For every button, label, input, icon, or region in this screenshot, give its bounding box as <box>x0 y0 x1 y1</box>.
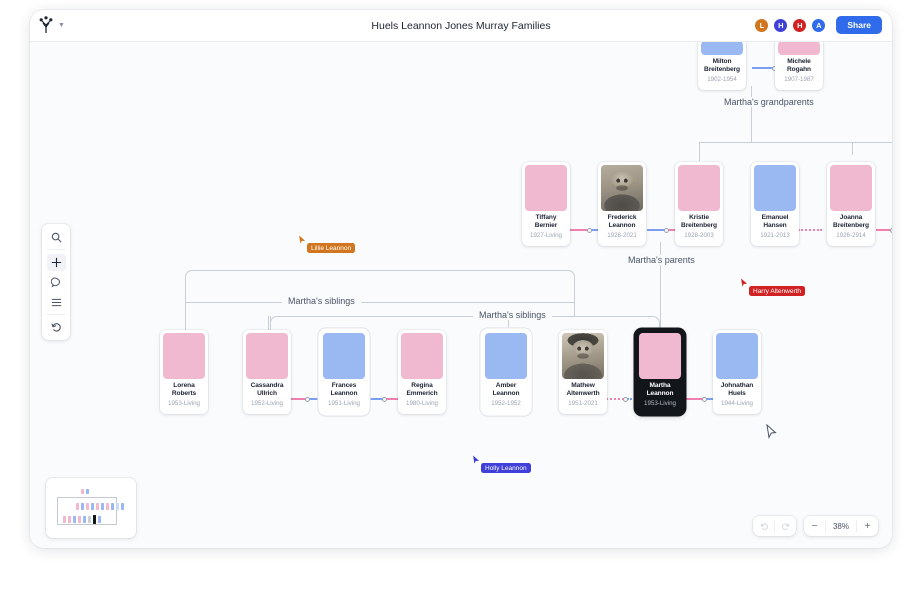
section-label: Martha's siblings <box>473 310 552 320</box>
minimap-node <box>73 516 76 523</box>
person-avatar <box>601 165 643 211</box>
minimap-selected-node <box>93 515 96 524</box>
minimap-node <box>86 503 89 510</box>
person-name: Mathew Altenwerth <box>563 382 603 399</box>
avatar[interactable]: H <box>773 18 788 33</box>
minimap-node <box>96 503 99 510</box>
person-card[interactable]: Frances Leannon 1951-Living <box>320 330 368 414</box>
add-tool-button[interactable] <box>42 252 70 272</box>
connector <box>660 242 661 292</box>
spouse-segment-left <box>685 398 703 400</box>
person-avatar <box>701 42 743 55</box>
spouse-segment-left <box>876 229 891 231</box>
undo-icon <box>759 521 769 531</box>
person-meta: Regina Emmerich 1980-Living <box>401 379 443 411</box>
minimap-node <box>86 489 89 494</box>
minimap-node <box>91 503 94 510</box>
minimap-node <box>98 516 101 523</box>
minimap-node <box>101 503 104 510</box>
connector <box>699 142 892 143</box>
history-tool-button[interactable] <box>42 317 70 337</box>
collaborator-cursor: Holly Leannon <box>472 454 481 466</box>
comment-icon <box>51 277 62 288</box>
cursor-label: Harry Altenwerth <box>749 286 805 296</box>
person-name: Frederick Leannon <box>602 214 642 231</box>
person-dates: 1953-Living <box>164 400 204 407</box>
union-knot <box>623 397 628 402</box>
person-meta: Mathew Altenwerth 1951-2021 <box>562 379 604 411</box>
person-meta: Milton Breitenberg 1902-1954 <box>701 55 743 87</box>
minimap-node <box>76 503 79 510</box>
person-photo <box>601 165 643 211</box>
connector <box>185 316 186 330</box>
person-meta: Frederick Leannon 1928-2021 <box>601 211 643 243</box>
connector <box>852 142 853 155</box>
person-name: Cassandra Ullrich <box>247 382 287 399</box>
union-knot <box>587 228 592 233</box>
spouse-segment-left <box>752 67 773 69</box>
union-knot <box>664 228 669 233</box>
person-name: Milton Breitenberg <box>702 58 742 75</box>
union-knot <box>890 228 893 233</box>
person-meta: Tiffany Bernier 1927-Living <box>525 211 567 243</box>
avatar[interactable]: H <box>792 18 807 33</box>
union-knot <box>702 397 707 402</box>
person-avatar <box>639 333 681 379</box>
person-name: Lorena Roberts <box>164 382 204 399</box>
person-avatar <box>754 165 796 211</box>
person-card[interactable]: Frederick Leannon 1928-2021 <box>598 162 646 246</box>
person-dates: 1926-2914 <box>831 232 871 239</box>
person-card[interactable]: Johnathan Huels 1944-Living <box>713 330 761 414</box>
connector <box>751 86 752 142</box>
person-dates: 1980-Living <box>402 400 442 407</box>
person-avatar <box>716 333 758 379</box>
person-card[interactable]: Regina Emmerich 1980-Living <box>398 330 446 414</box>
connector <box>270 316 271 330</box>
person-meta: Martha Leannon 1953-Living <box>639 379 681 411</box>
bottom-controls: − 38% + <box>753 516 878 536</box>
minimap-node <box>81 503 84 510</box>
union-knot <box>305 397 310 402</box>
person-name: Martha Leannon <box>640 382 680 399</box>
connector <box>268 316 269 330</box>
person-card[interactable]: Michele Rogahn 1907-1987 <box>775 42 823 90</box>
mouse-pointer-icon <box>766 424 777 439</box>
person-meta: Emanuel Hansen 1921-2013 <box>754 211 796 243</box>
cursor-arrow-icon <box>472 454 481 466</box>
zoom-in-button[interactable]: + <box>857 516 878 536</box>
minimap-node <box>83 516 86 523</box>
person-meta: Lorena Roberts 1953-Living <box>163 379 205 411</box>
minimap-inner <box>51 483 131 533</box>
person-dates: 1953-Living <box>640 400 680 407</box>
person-name: Regina Emmerich <box>402 382 442 399</box>
header-right-group: L H H A Share <box>754 16 882 34</box>
connector <box>699 155 700 161</box>
person-name: Emanuel Hansen <box>755 214 795 231</box>
person-avatar <box>401 333 443 379</box>
minimap-node <box>63 516 66 523</box>
collaborator-cursor: Harry Altenwerth <box>740 277 749 289</box>
person-avatar <box>525 165 567 211</box>
spouse-segment-left <box>570 229 588 231</box>
person-meta: Amber Leannon 1952-1952 <box>485 379 527 411</box>
list-tool-button[interactable] <box>42 292 70 312</box>
minimap-node <box>88 516 91 523</box>
person-card[interactable]: Tiffany Bernier 1927-Living <box>522 162 570 246</box>
spouse-link <box>876 229 892 231</box>
zoom-level-label[interactable]: 38% <box>826 522 856 531</box>
person-dates: 1951-Living <box>324 400 364 407</box>
comment-tool-button[interactable] <box>42 272 70 292</box>
minimap-node <box>121 503 124 510</box>
connector <box>699 142 700 155</box>
person-card[interactable]: Lorena Roberts 1953-Living <box>160 330 208 414</box>
connector <box>660 316 661 330</box>
person-avatar <box>323 333 365 379</box>
minimap-node <box>68 516 71 523</box>
person-name: Johnathan Huels <box>717 382 757 399</box>
person-card-selected[interactable]: Martha Leannon 1953-Living <box>636 330 684 414</box>
left-toolbar <box>42 224 70 340</box>
person-name: Amber Leannon <box>486 382 526 399</box>
section-label: Martha's siblings <box>282 296 361 306</box>
person-avatar <box>562 333 604 379</box>
person-meta: Johnathan Huels 1944-Living <box>716 379 758 411</box>
person-dates: 1927-Living <box>526 232 566 239</box>
person-avatar <box>485 333 527 379</box>
redo-button[interactable] <box>775 516 796 536</box>
minimap-node <box>78 516 81 523</box>
redo-icon <box>781 521 791 531</box>
section-label: Martha's grandparents <box>718 97 820 107</box>
person-dates: 1928-2021 <box>602 232 642 239</box>
toolbar-divider <box>47 249 65 250</box>
minimap-node <box>111 503 114 510</box>
spouse-segment-right <box>798 229 823 231</box>
minimap-node <box>81 489 84 494</box>
person-card[interactable]: Kristie Breitenberg 1928-2003 <box>675 162 723 246</box>
person-meta: Michele Rogahn 1907-1987 <box>778 55 820 87</box>
app-header: ▼ Huels Leannon Jones Murray Families L … <box>30 10 892 42</box>
person-dates: 1951-2021 <box>563 400 603 407</box>
person-meta: Cassandra Ullrich 1952-Living <box>246 379 288 411</box>
toolbar-divider <box>47 314 65 315</box>
list-icon <box>51 297 62 308</box>
minimap[interactable] <box>46 478 136 538</box>
app-window: ▼ Huels Leannon Jones Murray Families L … <box>30 10 892 548</box>
cursor-label: Lillie Leannon <box>307 243 355 253</box>
plus-icon <box>51 257 62 268</box>
person-card[interactable]: Milton Breitenberg 1902-1954 <box>698 42 746 90</box>
active-tool-highlight <box>47 254 66 271</box>
connector <box>185 302 575 303</box>
person-meta: Joanna Breitenberg 1926-2914 <box>830 211 872 243</box>
undo-history-icon <box>51 322 62 333</box>
person-dates: 1928-2003 <box>679 232 719 239</box>
avatar[interactable]: A <box>811 18 826 33</box>
person-dates: 1902-1954 <box>702 76 742 83</box>
person-name: Joanna Breitenberg <box>831 214 871 231</box>
person-dates: 1952-Living <box>247 400 287 407</box>
person-dates: 1944-Living <box>717 400 757 407</box>
person-avatar <box>830 165 872 211</box>
logo-group[interactable]: ▼ <box>38 16 65 34</box>
avatar[interactable]: L <box>754 18 769 33</box>
section-label: Martha's parents <box>622 255 701 265</box>
chevron-down-icon: ▼ <box>58 22 65 29</box>
person-name: Kristie Breitenberg <box>679 214 719 231</box>
cursor-arrow-icon <box>740 277 749 289</box>
cursor-arrow-icon <box>298 234 307 246</box>
union-knot <box>382 397 387 402</box>
undo-button[interactable] <box>753 516 774 536</box>
spouse-segment-left <box>647 229 665 231</box>
person-name: Michele Rogahn <box>779 58 819 75</box>
cursor-label: Holly Leannon <box>481 463 531 473</box>
person-avatar <box>678 165 720 211</box>
zoom-out-button[interactable]: − <box>804 516 825 536</box>
zoom-controls: − 38% + <box>804 516 878 536</box>
person-card[interactable]: Mathew Altenwerth 1951-2021 <box>559 330 607 414</box>
person-name: Tiffany Bernier <box>526 214 566 231</box>
person-card[interactable]: Amber Leannon 1952-1952 <box>482 330 530 414</box>
person-card[interactable]: Cassandra Ullrich 1952-Living <box>243 330 291 414</box>
collaborator-cursor: Lillie Leannon <box>298 234 307 246</box>
spouse-segment-left <box>606 398 624 400</box>
search-tool-button[interactable] <box>42 227 70 247</box>
family-tree-logo-icon <box>38 16 54 34</box>
share-button[interactable]: Share <box>836 16 882 34</box>
person-card[interactable]: Joanna Breitenberg 1926-2914 <box>827 162 875 246</box>
person-avatar <box>778 42 820 55</box>
person-dates: 1952-1952 <box>486 400 526 407</box>
person-avatar <box>163 333 205 379</box>
person-dates: 1921-2013 <box>755 232 795 239</box>
tree-canvas[interactable]: Martha's grandparents Martha's parents M… <box>30 42 892 548</box>
person-meta: Kristie Breitenberg 1928-2003 <box>678 211 720 243</box>
person-meta: Frances Leannon 1951-Living <box>323 379 365 411</box>
connector <box>660 292 661 316</box>
history-controls <box>753 516 796 536</box>
person-name: Frances Leannon <box>324 382 364 399</box>
search-icon <box>51 232 62 243</box>
person-dates: 1907-1987 <box>779 76 819 83</box>
person-photo <box>562 333 604 379</box>
minimap-node <box>116 503 119 510</box>
person-card[interactable]: Emanuel Hansen 1921-2013 <box>751 162 799 246</box>
minimap-node <box>106 503 109 510</box>
person-avatar <box>246 333 288 379</box>
